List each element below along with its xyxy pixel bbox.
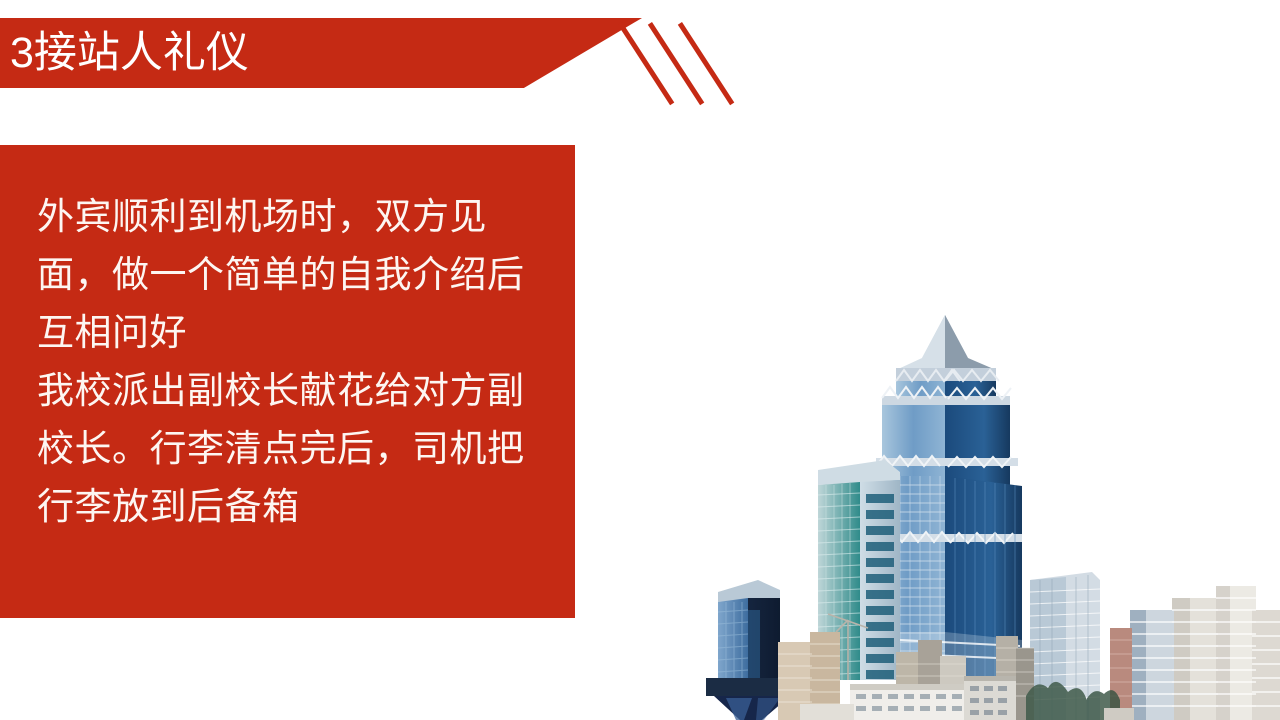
content-paragraph-1: 外宾顺利到机场时，双方见面，做一个简单的自我介绍后互相问好	[37, 188, 547, 362]
banner-stripe-2	[648, 22, 704, 105]
page-title: 3接站人礼仪	[10, 18, 249, 88]
banner-stripe-1	[618, 22, 674, 105]
slide-canvas: 3接站人礼仪 外宾顺利到机场时，双方见面，做一个简单的自我介绍后互相问好 我校派…	[0, 0, 1280, 720]
content-paragraph-2: 我校派出副校长献花给对方副校长。行李清点完后，司机把行李放到后备箱	[37, 362, 547, 536]
banner-stripe-3	[678, 22, 734, 105]
content-text: 外宾顺利到机场时，双方见面，做一个简单的自我介绍后互相问好 我校派出副校长献花给…	[37, 188, 547, 536]
cityscape-photo	[700, 280, 1280, 720]
